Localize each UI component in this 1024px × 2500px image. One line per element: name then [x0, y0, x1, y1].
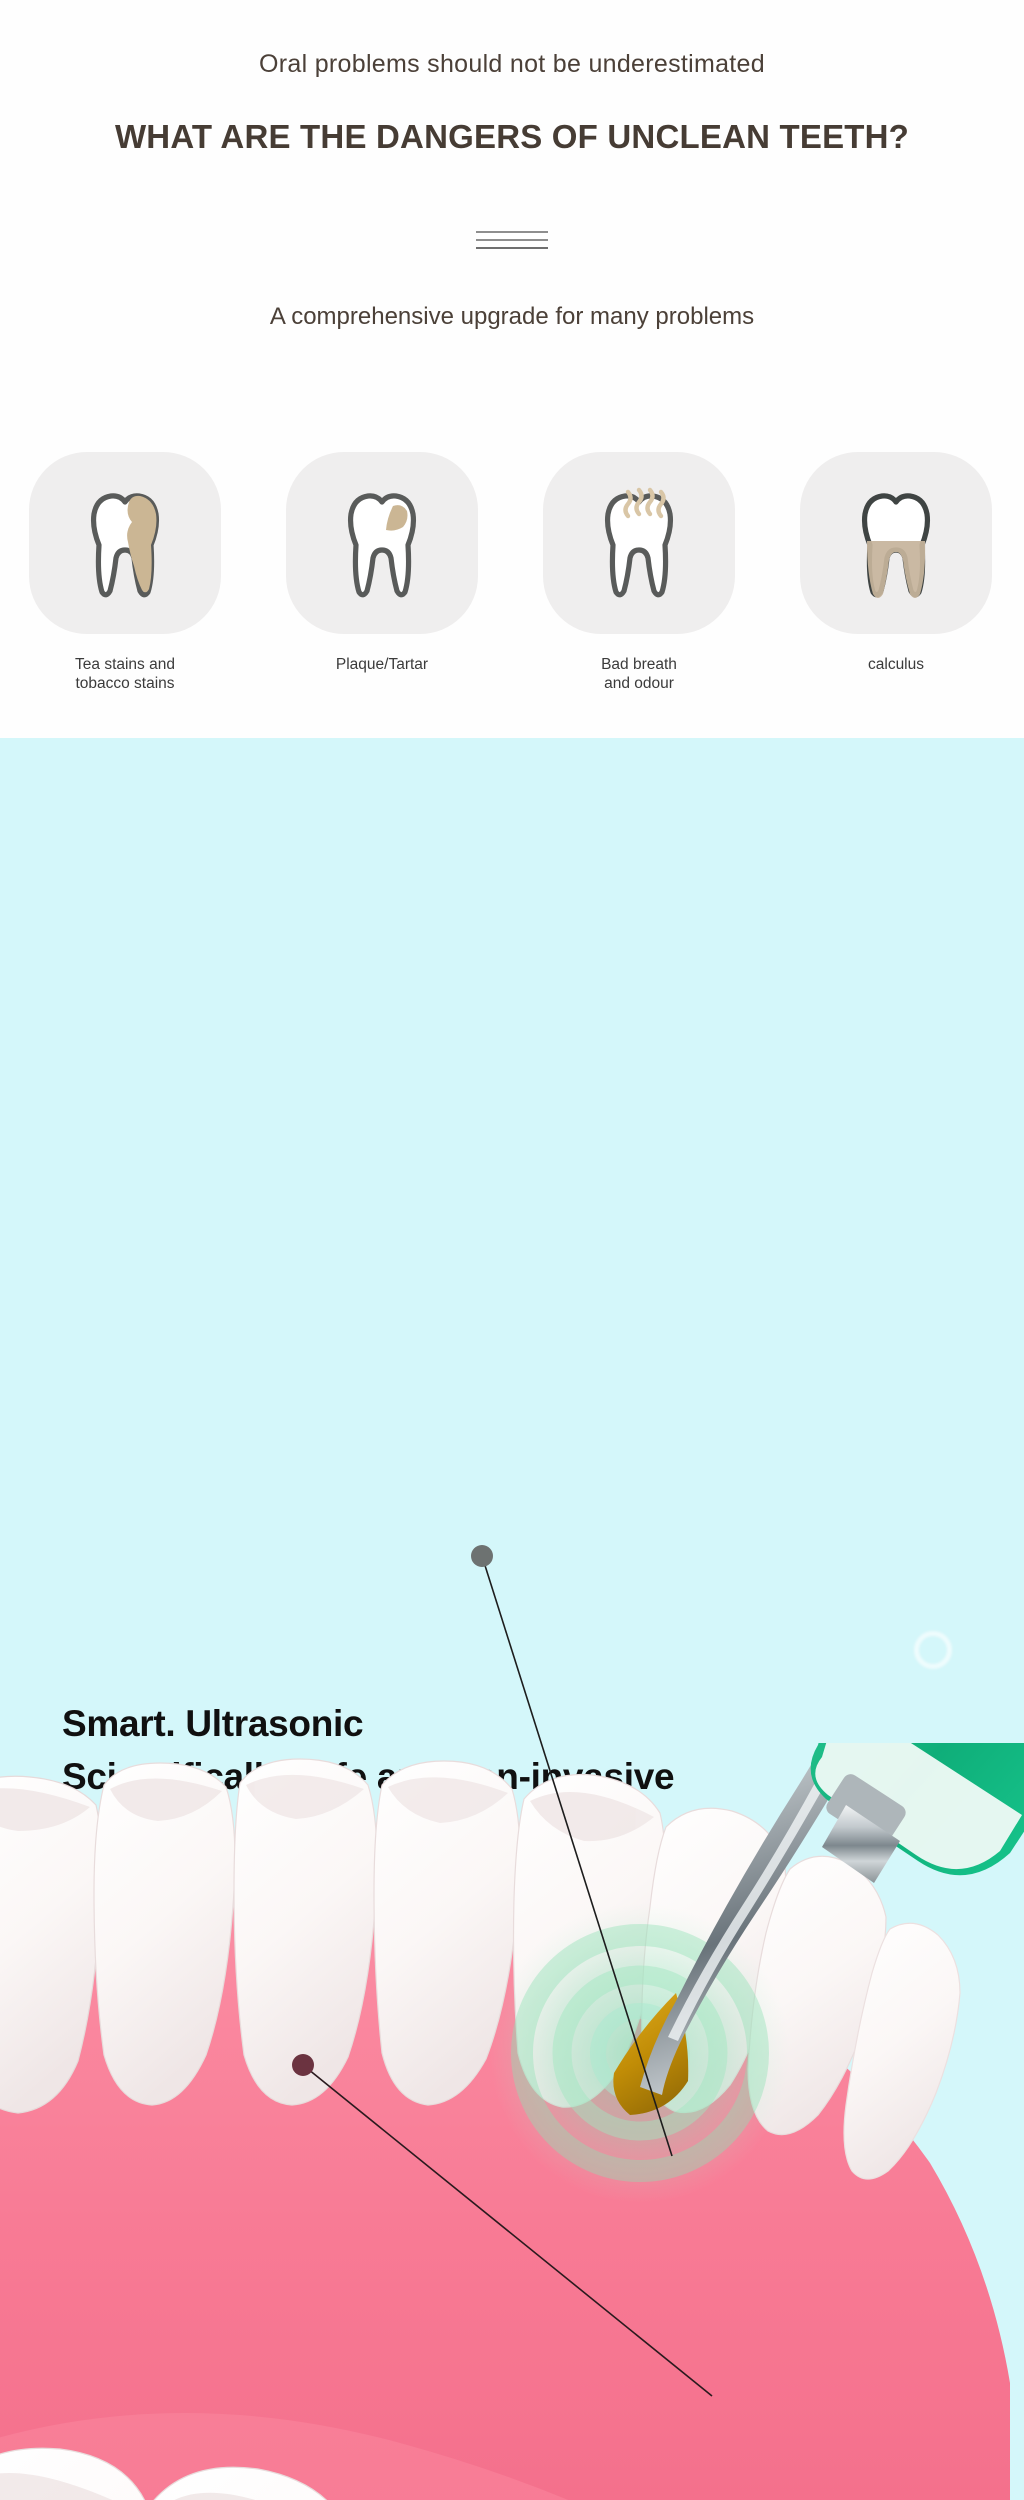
card-label-line-1: Bad breath [543, 656, 735, 675]
decorative-ring [914, 1631, 952, 1669]
card-tile [543, 452, 735, 634]
tooth-plaque-icon [329, 484, 435, 602]
problem-card-list: Tea stains and tobacco stains Plaque/Tar… [0, 452, 1024, 702]
teeth-gums-illustration [0, 1743, 1024, 2500]
card-label-line-1: Plaque/Tartar [286, 656, 478, 675]
card-label: calculus [800, 656, 992, 675]
problem-card-plaque-tartar[interactable]: Plaque/Tartar [286, 452, 478, 675]
card-tile [29, 452, 221, 634]
divider-line-2 [476, 239, 548, 241]
card-label: Tea stains and tobacco stains [29, 656, 221, 694]
product-hero-section: Smart. Ultrasonic Scientifically safe an… [0, 738, 1024, 2500]
card-label-line-1: calculus [800, 656, 992, 675]
divider-lines [476, 231, 548, 249]
card-tile [800, 452, 992, 634]
header-section: Oral problems should not be underestimat… [0, 0, 1024, 738]
divider-line-1 [476, 231, 548, 233]
tooth-stain-icon [72, 484, 178, 602]
illustration-svg [0, 1743, 1024, 2500]
card-label-line-2: tobacco stains [29, 675, 221, 694]
card-label-line-2: and odour [543, 675, 735, 694]
tooth-calculus-icon [843, 484, 949, 602]
divider-line-3 [476, 247, 548, 249]
problem-card-tea-tobacco-stains[interactable]: Tea stains and tobacco stains [29, 452, 221, 694]
card-label-line-1: Tea stains and [29, 656, 221, 675]
page-title: WHAT ARE THE DANGERS OF UNCLEAN TEETH? [0, 118, 1024, 156]
marker-dot-hard-teeth [471, 1545, 493, 1567]
tooth-odour-icon [586, 484, 692, 602]
tagline-text: A comprehensive upgrade for many problem… [0, 303, 1024, 331]
card-tile [286, 452, 478, 634]
problem-card-bad-breath[interactable]: Bad breath and odour [543, 452, 735, 694]
problem-card-calculus[interactable]: calculus [800, 452, 992, 675]
card-label: Plaque/Tartar [286, 656, 478, 675]
card-label: Bad breath and odour [543, 656, 735, 694]
eyebrow-text: Oral problems should not be underestimat… [0, 50, 1024, 79]
